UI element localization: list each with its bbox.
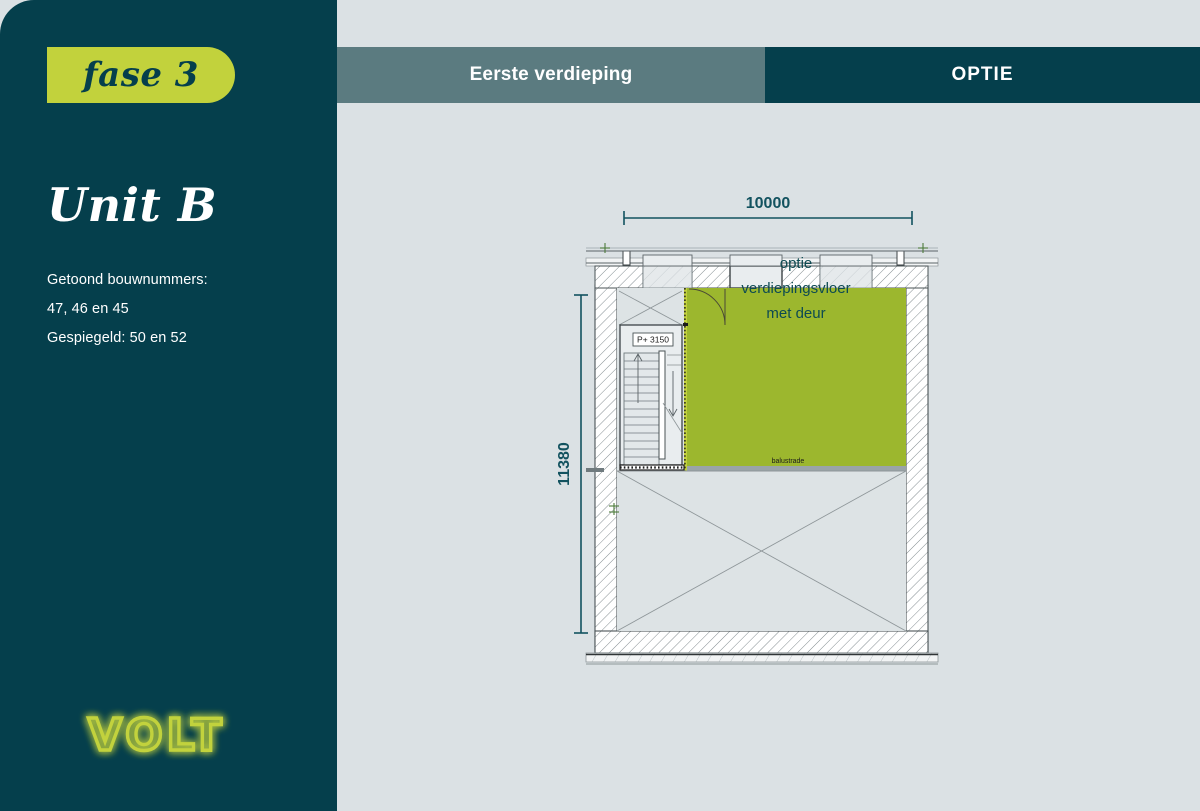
balustrade-label: balustrade (772, 458, 805, 465)
level-marker-label: P+ 3150 (637, 335, 669, 345)
stair-treads (624, 353, 659, 465)
floorplan-page: fase 3 Unit B Getoond bouwnummers: 47, 4… (0, 0, 1200, 811)
building-shell: optie verdiepingsvloer met deur balustra… (586, 243, 938, 664)
volt-logo: VOLT (88, 706, 248, 764)
metadata-line: Gespiegeld: 50 en 52 (47, 324, 317, 353)
phase-badge-label: fase 3 (83, 55, 199, 95)
phase-badge: fase 3 (47, 47, 235, 103)
tab-floor[interactable]: Eerste verdieping (337, 47, 765, 103)
volt-logo-icon: VOLT (88, 706, 248, 764)
sidebar: fase 3 Unit B Getoond bouwnummers: 47, 4… (0, 0, 337, 811)
dimension-width-label: 10000 (746, 195, 791, 212)
room-label-line-1: optie (780, 255, 813, 272)
wall-right (906, 285, 928, 651)
dimension-width: 10000 (624, 195, 912, 225)
void-area (586, 468, 906, 631)
balustrade-edge (686, 466, 906, 471)
room-label-line-2: verdiepingsvloer (741, 280, 850, 297)
wall-bottom (595, 631, 928, 653)
tab-option-label: OPTIE (951, 64, 1013, 86)
unit-metadata: Getoond bouwnummers: 47, 46 en 45 Gespie… (47, 266, 317, 353)
metadata-line: Getoond bouwnummers: (47, 266, 317, 295)
dimension-height-label: 11380 (556, 442, 573, 486)
dimension-height: 11380 (556, 295, 588, 633)
volt-logo-text: VOLT (88, 710, 225, 761)
tab-option[interactable]: OPTIE (765, 47, 1200, 103)
page-title: Unit B (47, 178, 217, 232)
metadata-line: 47, 46 en 45 (47, 295, 317, 324)
floorplan-drawing: 10000 11380 (337, 103, 1200, 811)
tab-floor-label: Eerste verdieping (470, 64, 633, 86)
room-label-line-3: met deur (766, 305, 825, 322)
